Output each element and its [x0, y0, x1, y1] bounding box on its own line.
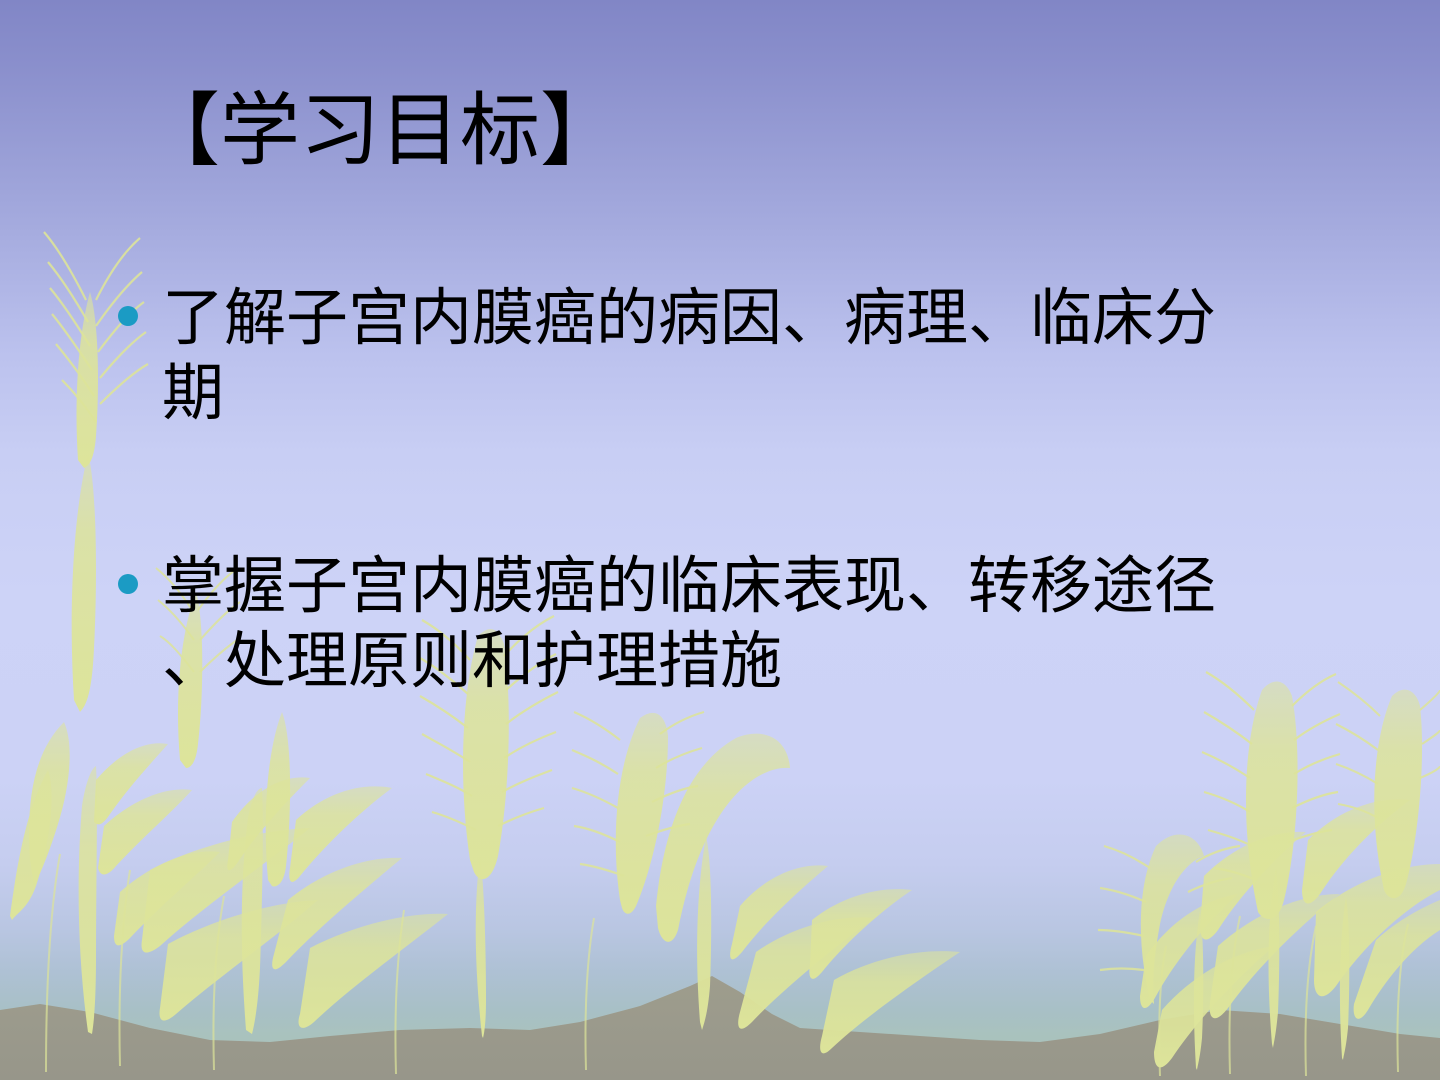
- list-item: 了解子宫内膜癌的病因、病理、临床分 期: [118, 282, 1298, 432]
- objective-2-text: 掌握子宫内膜癌的临床表现、转移途径 、处理原则和护理措施: [162, 550, 1298, 700]
- wheat-cluster-right-shape: [1098, 672, 1440, 1076]
- presentation-slide: 【学习目标】 了解子宫内膜癌的病因、病理、临床分 期 掌握子宫内膜癌的临床表现、…: [0, 0, 1440, 1080]
- bullet-dot-icon: [118, 550, 162, 594]
- objective-1-text: 了解子宫内膜癌的病因、病理、临床分 期: [162, 282, 1298, 432]
- slide-title: 【学习目标】: [140, 92, 620, 172]
- objective-2-line-2: 、处理原则和护理措施: [162, 625, 1298, 700]
- objective-1-line-1: 了解子宫内膜癌的病因、病理、临床分: [162, 282, 1298, 357]
- objectives-list: 了解子宫内膜癌的病因、病理、临床分 期 掌握子宫内膜癌的临床表现、转移途径 、处…: [118, 282, 1298, 700]
- objective-1-line-2: 期: [162, 357, 1298, 432]
- bullet-dot-icon: [118, 282, 162, 326]
- list-item: 掌握子宫内膜癌的临床表现、转移途径 、处理原则和护理措施: [118, 550, 1298, 700]
- ground-hills-shape: [0, 976, 1440, 1080]
- objective-2-line-1: 掌握子宫内膜癌的临床表现、转移途径: [162, 550, 1298, 625]
